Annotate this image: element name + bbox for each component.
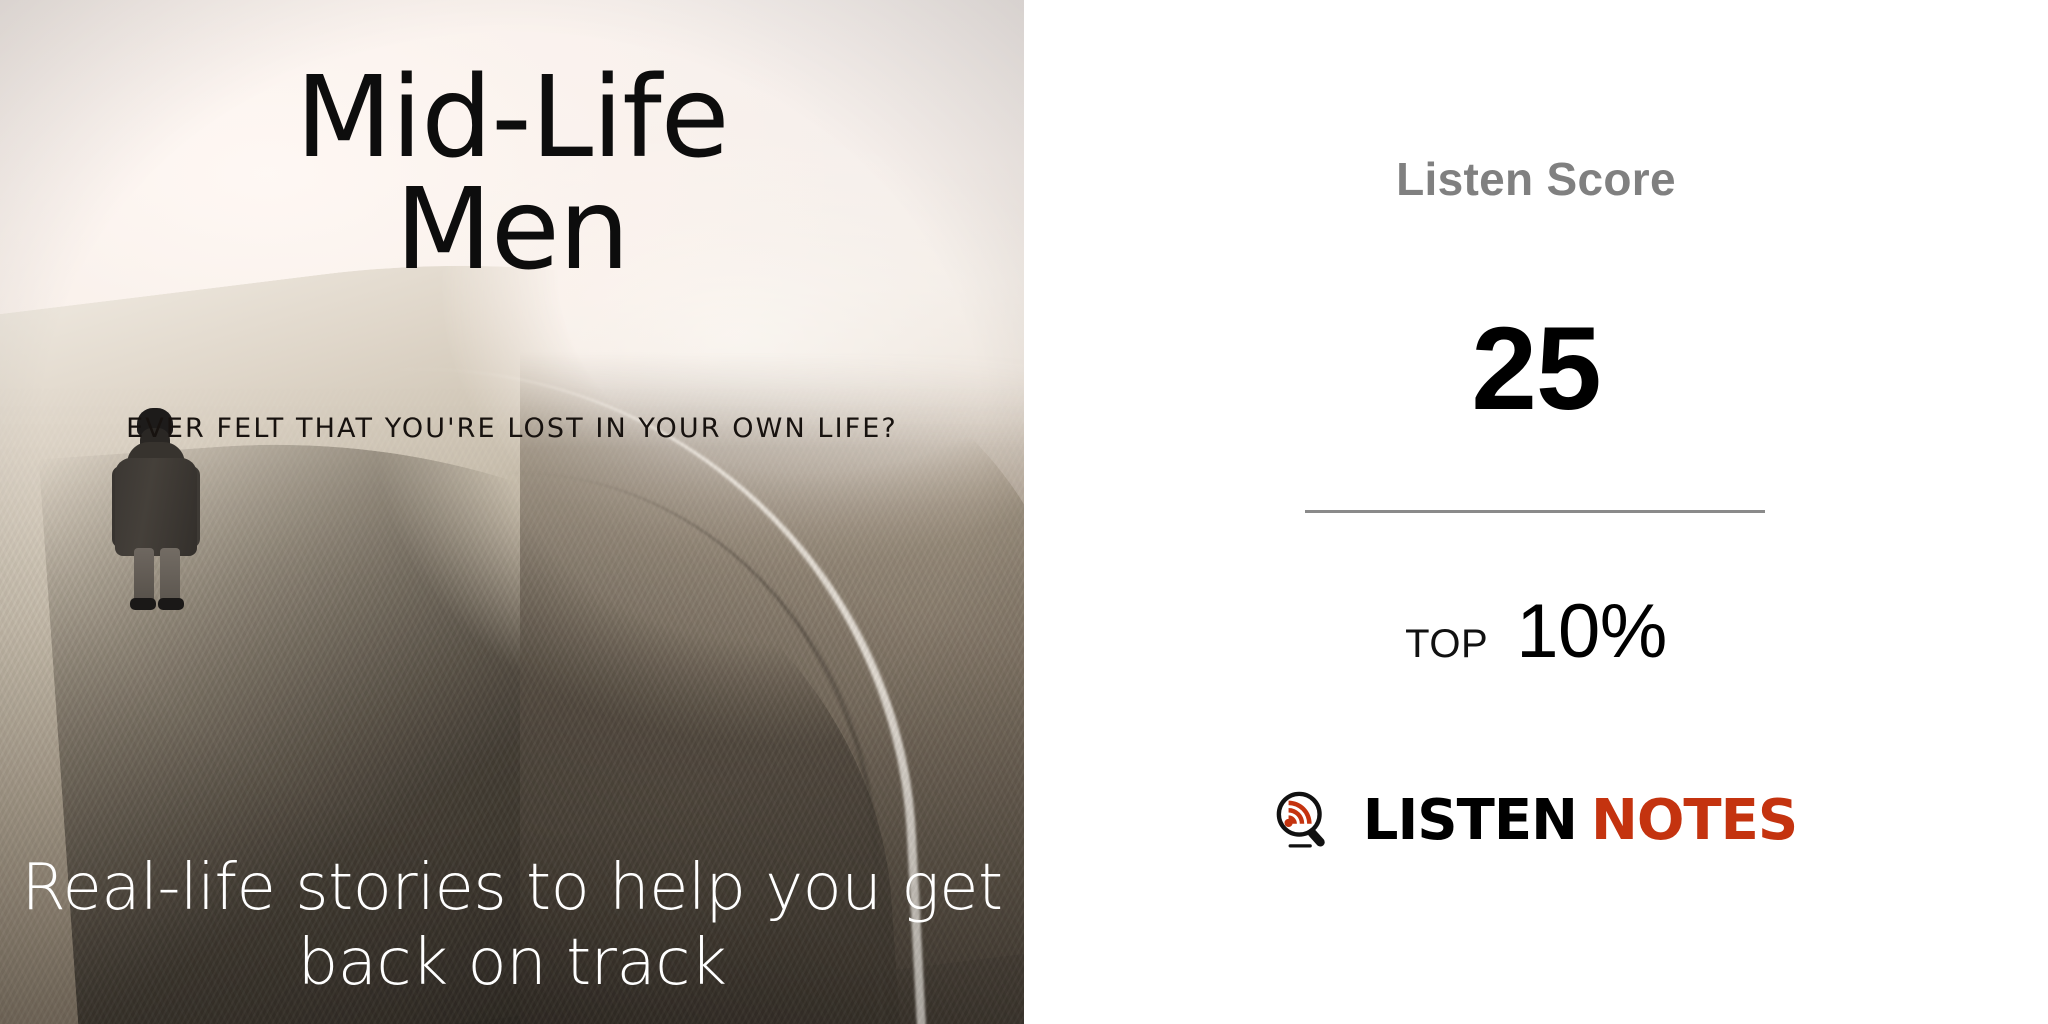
cover-title-line-2: Men: [0, 174, 1024, 286]
wordmark-notes: Notes: [1591, 788, 1797, 853]
listen-notes-wordmark: ListenNotes: [1363, 793, 1797, 849]
rank-percent-value: 10%: [1516, 588, 1667, 675]
podcast-cover-art: Mid-Life Men EVER FELT THAT YOU'RE LOST …: [0, 0, 1024, 1024]
cover-footer-text: Real-life stories to help you get back o…: [18, 851, 1006, 1002]
man-shoe-left: [130, 598, 156, 610]
man-leg-left: [134, 548, 154, 604]
listen-score-card: Mid-Life Men EVER FELT THAT YOU'RE LOST …: [0, 0, 2048, 1024]
cover-tagline: EVER FELT THAT YOU'RE LOST IN YOUR OWN L…: [0, 410, 1024, 448]
score-divider: [1305, 510, 1765, 513]
wordmark-listen: Listen: [1363, 788, 1577, 853]
listen-score-label: Listen Score: [1024, 152, 2048, 206]
man-shoe-right: [158, 598, 184, 610]
listen-score-panel: Listen Score 25 TOP 10% ListenNotes: [1024, 0, 2048, 1024]
rank-prefix-label: TOP: [1405, 622, 1488, 667]
man-jacket: [115, 458, 197, 556]
listen-notes-magnifier-rss-icon: [1275, 790, 1337, 852]
man-leg-right: [160, 548, 180, 604]
listen-score-rank: TOP 10%: [1024, 588, 2048, 675]
listen-score-value: 25: [1024, 310, 2048, 428]
cover-title-line-1: Mid-Life: [295, 53, 728, 183]
cover-title: Mid-Life Men: [0, 62, 1024, 286]
listen-notes-logo[interactable]: ListenNotes: [1024, 790, 2048, 852]
